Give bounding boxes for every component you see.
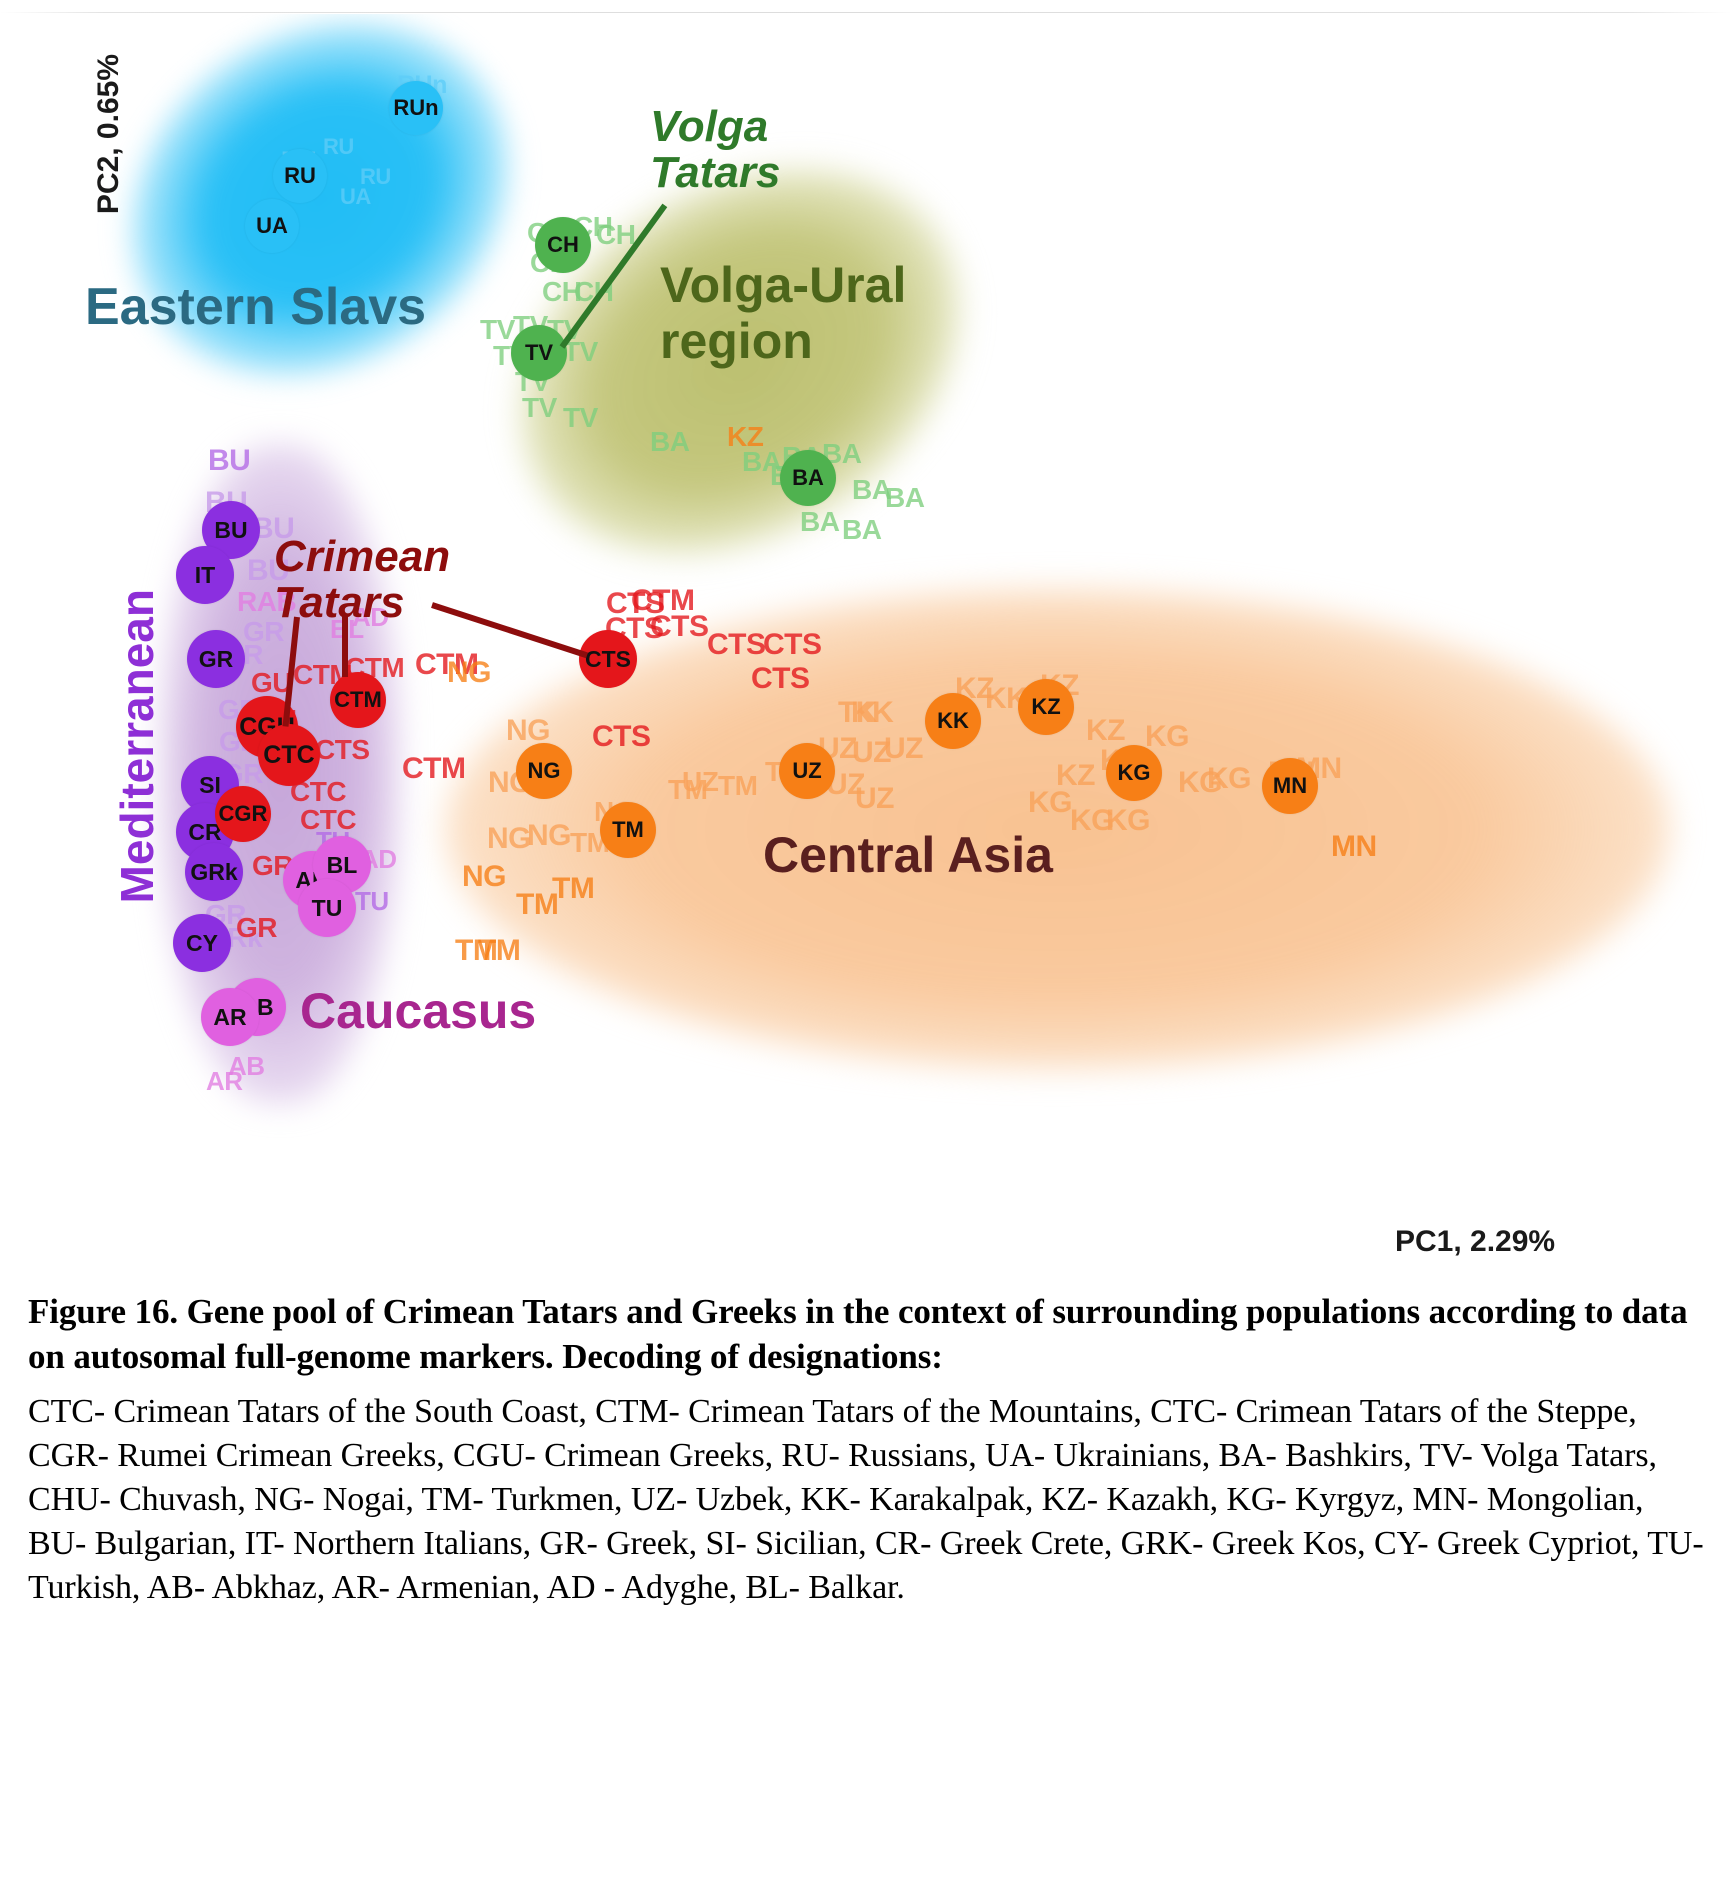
callout-crimean-tatars-line1: Crimean [274, 532, 450, 581]
sample-label-kg: KG [1106, 804, 1150, 838]
population-node-ba[interactable]: BA [780, 450, 836, 506]
population-node-ru[interactable]: RU [273, 149, 327, 203]
sample-label-tm: TM [552, 872, 594, 906]
sample-label-kg: KG [1145, 720, 1189, 754]
cluster-label-central-asia: Central Asia [763, 826, 1053, 884]
population-node-ar[interactable]: AR [201, 988, 259, 1046]
sample-label-ba: BA [885, 482, 924, 514]
population-node-ua[interactable]: UA [245, 199, 299, 253]
sample-label-mn: MN [1331, 830, 1377, 864]
sample-label-bu: BU [208, 444, 250, 478]
sample-label-tv: TV [563, 402, 598, 434]
sample-label-gr: GR [236, 912, 277, 944]
population-node-kg[interactable]: KG [1106, 745, 1162, 801]
sample-label-uz: UZ [682, 766, 718, 798]
pca-scatter-plot: RUnRURUUAUARUCHCHCHCHCHCHTVTVTVTVTVTVTVT… [0, 14, 1732, 1282]
cluster-blob-eastern-slavs [62, 14, 579, 449]
y-axis-label: PC2, 0.65% [92, 54, 126, 214]
population-node-cgr[interactable]: CGR [215, 786, 271, 842]
sample-label-ru: RU [360, 164, 391, 190]
sample-label-ba: BA [800, 506, 839, 538]
population-node-kz[interactable]: KZ [1018, 679, 1074, 735]
sample-label-uz: UZ [855, 782, 894, 816]
sample-label-ng: NG [487, 822, 531, 856]
sample-label-ru: RU [323, 134, 354, 160]
population-node-mn[interactable]: MN [1262, 758, 1318, 814]
population-node-cts[interactable]: CTS [579, 630, 637, 688]
population-node-cy[interactable]: CY [173, 914, 231, 972]
cluster-label-volga-ural: Volga-Ural region [660, 257, 906, 369]
population-node-tm[interactable]: TM [600, 802, 656, 858]
cluster-label-caucasus: Caucasus [300, 982, 536, 1040]
sample-label-cts: CTS [592, 720, 651, 754]
sample-label-kz: KZ [1086, 714, 1125, 748]
callout-leader-crimean-tatars-ctm [342, 615, 348, 677]
population-node-tv[interactable]: TV [511, 325, 567, 381]
figure-caption: Figure 16. Gene pool of Crimean Tatars a… [28, 1290, 1704, 1611]
population-node-uz[interactable]: UZ [779, 743, 835, 799]
page-top-divider [0, 12, 1732, 13]
callout-crimean-tatars: Crimean Tatars [274, 534, 450, 626]
sample-label-cts: CTS [751, 662, 810, 696]
sample-label-ba: BA [842, 514, 881, 546]
cluster-label-mediterranean: Mediterranean [110, 589, 164, 903]
sample-label-ng: NG [462, 860, 506, 894]
sample-label-uz: UZ [884, 732, 923, 766]
sample-label-ar: AR [206, 1066, 243, 1097]
sample-label-cts: CTS [707, 628, 766, 662]
sample-label-cts: CTS [763, 628, 822, 662]
sample-label-ba: BA [650, 426, 689, 458]
sample-label-kk: KK [851, 696, 893, 730]
sample-label-cts: CTS [650, 610, 709, 644]
sample-label-kg: KG [1207, 762, 1251, 796]
sample-label-ch: CH [596, 219, 635, 251]
sample-label-cts: CTS [315, 734, 370, 766]
figure-caption-legend: CTC- Crimean Tatars of the South Coast, … [28, 1390, 1704, 1611]
sample-label-tm: TM [718, 770, 757, 802]
sample-label-ctc: CTC [300, 804, 356, 836]
callout-volga-tatars-line1: Volga [650, 102, 768, 151]
sample-label-ng: NG [527, 819, 571, 853]
sample-label-tu: TU [355, 886, 389, 917]
callout-volga-tatars: Volga Tatars [650, 104, 780, 196]
population-node-ctm[interactable]: CTM [330, 672, 386, 728]
figure-caption-title: Figure 16. Gene pool of Crimean Tatars a… [28, 1290, 1704, 1380]
x-axis-label: PC1, 2.29% [1395, 1225, 1555, 1259]
population-node-run[interactable]: RUn [389, 81, 443, 135]
population-node-grk[interactable]: GRk [185, 843, 243, 901]
callout-volga-tatars-line2: Tatars [650, 148, 780, 197]
cluster-label-eastern-slavs: Eastern Slavs [85, 277, 426, 337]
sample-label-kg: KG [1028, 786, 1072, 820]
population-node-tu[interactable]: TU [298, 879, 356, 937]
population-node-gr[interactable]: GR [187, 630, 245, 688]
population-node-ng[interactable]: NG [516, 743, 572, 799]
population-node-ctc[interactable]: CTC [258, 724, 320, 786]
volga-ural-line1: Volga-Ural region [660, 257, 906, 369]
sample-label-tm: TM [478, 934, 520, 968]
sample-label-tv: TV [522, 392, 557, 424]
population-node-kk[interactable]: KK [925, 693, 981, 749]
sample-label-ng: NG [447, 656, 491, 690]
population-node-ch[interactable]: CH [535, 217, 591, 273]
population-node-it[interactable]: IT [176, 546, 234, 604]
sample-label-ctm: CTM [402, 752, 465, 786]
